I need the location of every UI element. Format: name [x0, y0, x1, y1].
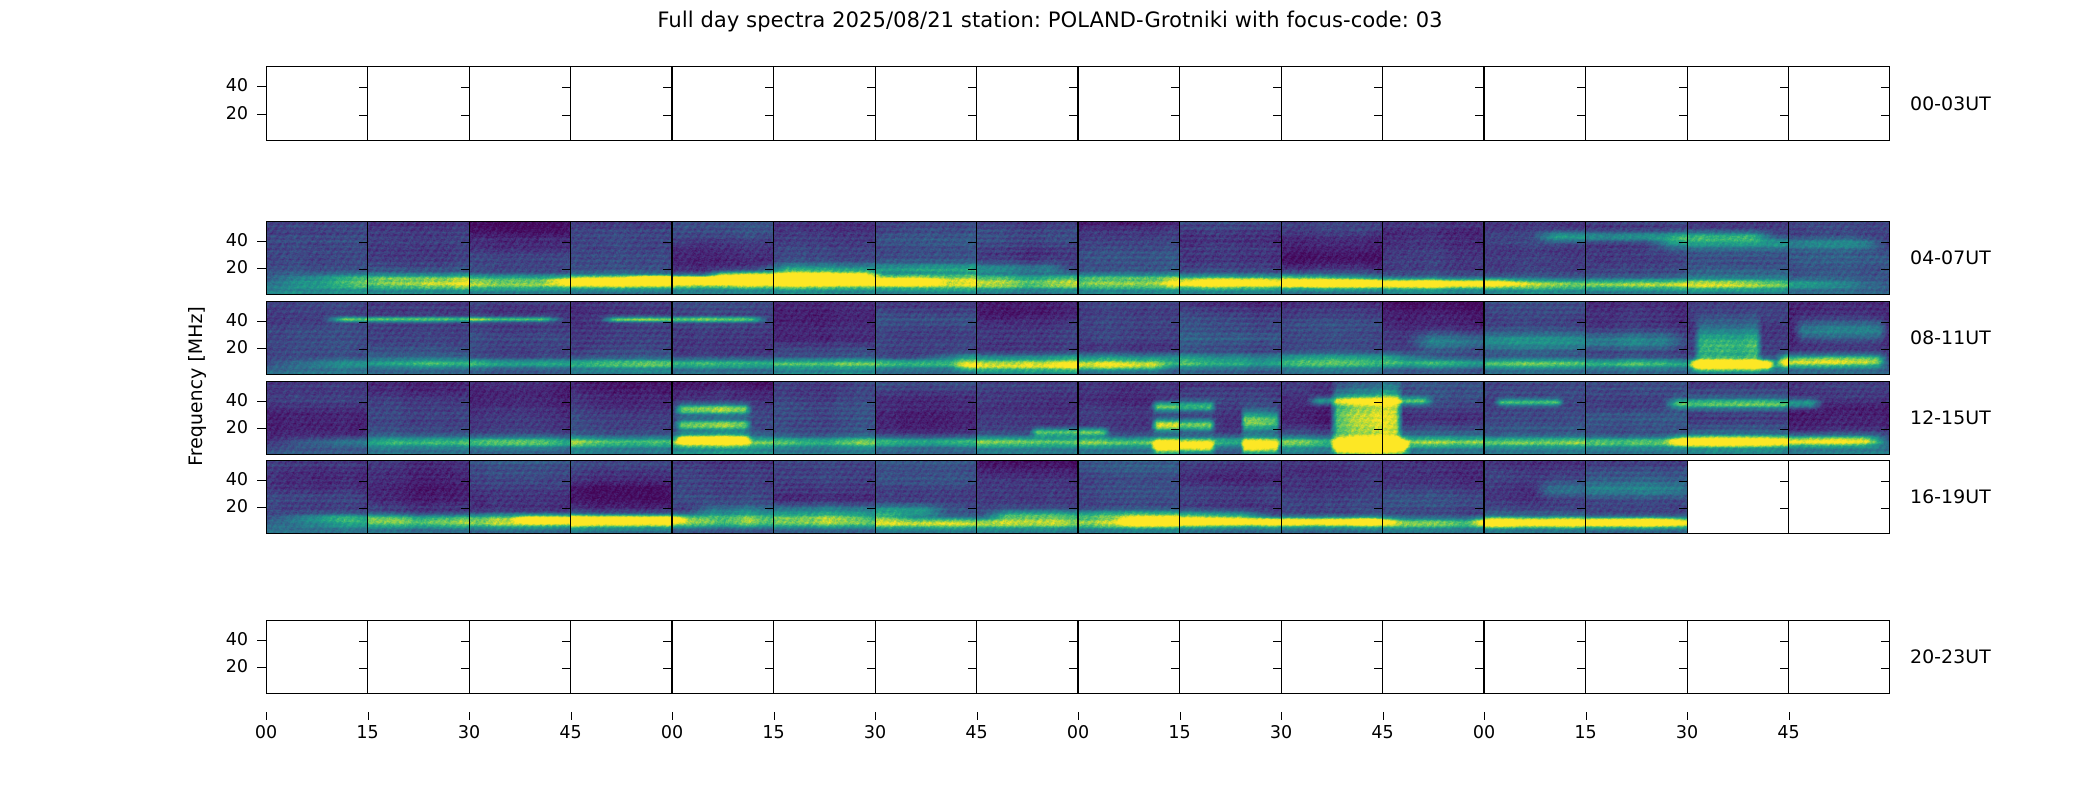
y-tick-mark	[1171, 87, 1179, 88]
y-tick-mark	[663, 87, 671, 88]
row-cells	[267, 222, 1889, 294]
x-axis-tick	[672, 712, 673, 720]
y-tick-mark	[1780, 481, 1788, 482]
spectrogram-cell[interactable]	[671, 621, 773, 693]
spectrogram-cell[interactable]	[1382, 621, 1483, 693]
y-tick-mark	[562, 242, 570, 243]
y-tick-mark	[562, 508, 570, 509]
y-tick-mark	[765, 508, 773, 509]
spectrogram-cell[interactable]	[1788, 382, 1889, 454]
y-tick-mark	[1475, 87, 1483, 88]
x-axis-tick-label: 45	[1777, 723, 1799, 743]
x-axis-tick	[368, 712, 369, 720]
y-tick-mark	[562, 349, 570, 350]
y-tick-mark	[663, 508, 671, 509]
spectrogram-cell[interactable]	[773, 382, 874, 454]
y-tick-mark	[461, 508, 469, 509]
y-tick-mark	[968, 641, 976, 642]
y-tick-mark	[968, 668, 976, 669]
y-tick-mark	[968, 242, 976, 243]
y-tick-mark	[1577, 349, 1585, 350]
y-tick-mark	[1374, 349, 1382, 350]
spectrogram-cell[interactable]	[671, 461, 773, 533]
y-axis-tick-label: 40	[202, 470, 248, 490]
spectrogram-cell[interactable]	[1281, 621, 1382, 693]
spectrogram-cell[interactable]	[1382, 67, 1483, 140]
y-tick-mark	[461, 322, 469, 323]
y-tick-mark	[1679, 349, 1687, 350]
y-axis-tick-label: 20	[202, 497, 248, 517]
spectrogram-cell[interactable]	[570, 67, 671, 140]
spectrogram-cell[interactable]	[267, 67, 367, 140]
y-tick-mark	[1577, 641, 1585, 642]
spectrogram-cell[interactable]	[1483, 621, 1585, 693]
spectrogram-cell[interactable]	[875, 302, 976, 374]
y-tick-mark	[1475, 508, 1483, 509]
y-tick-mark	[867, 87, 875, 88]
y-axis-tick-label: 20	[202, 657, 248, 677]
spectrogram-cell[interactable]	[1382, 302, 1483, 374]
y-tick-mark	[1069, 115, 1077, 116]
y-tick-mark	[1881, 429, 1889, 430]
y-tick-mark	[1069, 349, 1077, 350]
y-tick-mark	[1069, 429, 1077, 430]
y-tick-mark	[968, 349, 976, 350]
x-axis-tick	[774, 712, 775, 720]
spectrogram-cell[interactable]	[1483, 302, 1585, 374]
spectrogram-cell[interactable]	[469, 382, 570, 454]
x-axis-tick-label: 15	[762, 723, 784, 743]
y-tick-mark	[765, 242, 773, 243]
y-tick-mark	[1881, 641, 1889, 642]
y-axis-tick-label: 20	[202, 338, 248, 358]
spectrogram-cell[interactable]	[1788, 222, 1889, 294]
spectrogram-cell[interactable]	[570, 461, 671, 533]
y-tick-mark	[1374, 115, 1382, 116]
spectrogram-cell[interactable]	[1281, 67, 1382, 140]
spectrogram-cell[interactable]	[1788, 461, 1889, 533]
x-axis-tick	[571, 712, 572, 720]
y-axis-tick	[257, 507, 266, 508]
spectrogram-cell[interactable]	[671, 382, 773, 454]
y-axis-tick-label: 40	[202, 391, 248, 411]
y-tick-mark	[968, 402, 976, 403]
row-time-label: 00-03UT	[1910, 93, 1991, 115]
y-tick-mark	[1374, 242, 1382, 243]
y-tick-mark	[663, 481, 671, 482]
y-tick-mark	[1679, 402, 1687, 403]
spectrogram-cell[interactable]	[367, 621, 468, 693]
y-tick-mark	[461, 641, 469, 642]
y-tick-mark	[1171, 402, 1179, 403]
y-tick-mark	[359, 115, 367, 116]
spectrogram-cell[interactable]	[1687, 222, 1788, 294]
y-tick-mark	[359, 481, 367, 482]
spectrogram-cell[interactable]	[267, 382, 367, 454]
y-tick-mark	[562, 87, 570, 88]
y-tick-mark	[359, 668, 367, 669]
spectrogram-cell[interactable]	[1483, 67, 1585, 140]
y-tick-mark	[1475, 349, 1483, 350]
spectrogram-cell[interactable]	[367, 382, 468, 454]
row-cells	[267, 302, 1889, 374]
spectrogram-cell[interactable]	[1077, 461, 1179, 533]
y-axis-tick	[257, 86, 266, 87]
y-tick-mark	[1475, 115, 1483, 116]
x-axis-tick	[1180, 712, 1181, 720]
y-tick-mark	[1069, 322, 1077, 323]
spectrogram-cell[interactable]	[1483, 222, 1585, 294]
y-tick-mark	[1273, 322, 1281, 323]
y-axis-tick	[257, 348, 266, 349]
y-tick-mark	[1069, 402, 1077, 403]
spectrogram-cell[interactable]	[367, 302, 468, 374]
spectrogram-cell[interactable]	[1281, 222, 1382, 294]
y-tick-mark	[1577, 87, 1585, 88]
y-tick-mark	[1881, 402, 1889, 403]
spectrogram-cell[interactable]	[469, 461, 570, 533]
spectrogram-cell[interactable]	[267, 302, 367, 374]
y-tick-mark	[1881, 242, 1889, 243]
spectrogram-cell[interactable]	[1077, 621, 1179, 693]
y-tick-mark	[562, 668, 570, 669]
y-tick-mark	[359, 429, 367, 430]
x-axis-tick	[1383, 712, 1384, 720]
x-axis-tick-label: 15	[1574, 723, 1596, 743]
x-axis-tick	[1789, 712, 1790, 720]
y-tick-mark	[1780, 668, 1788, 669]
y-tick-mark	[1273, 349, 1281, 350]
y-tick-mark	[1577, 242, 1585, 243]
row-cells	[267, 621, 1889, 693]
x-axis-tick-label: 45	[1371, 723, 1393, 743]
x-axis-tick	[1078, 712, 1079, 720]
spectrogram-cell[interactable]	[1687, 67, 1788, 140]
x-axis-tick-label: 15	[356, 723, 378, 743]
spectrogram-cell[interactable]	[1281, 302, 1382, 374]
spectrogram-cell[interactable]	[1382, 222, 1483, 294]
spectrogram-cell[interactable]	[469, 222, 570, 294]
y-axis-tick	[257, 241, 266, 242]
y-tick-mark	[1273, 508, 1281, 509]
row-time-label: 16-19UT	[1910, 486, 1991, 508]
y-tick-mark	[1577, 429, 1585, 430]
y-tick-mark	[359, 269, 367, 270]
x-axis-tick-label: 30	[864, 723, 886, 743]
spectrogram-cell[interactable]	[1585, 461, 1686, 533]
y-tick-mark	[765, 115, 773, 116]
spectrogram-cell[interactable]	[570, 621, 671, 693]
spectrogram-cell[interactable]	[1179, 67, 1280, 140]
y-tick-mark	[1881, 349, 1889, 350]
y-axis-tick-label: 20	[202, 258, 248, 278]
y-tick-mark	[765, 269, 773, 270]
y-tick-mark	[1679, 322, 1687, 323]
y-tick-mark	[867, 242, 875, 243]
y-axis-tick	[257, 321, 266, 322]
y-tick-mark	[1475, 242, 1483, 243]
x-axis-tick-label: 30	[458, 723, 480, 743]
row-cells	[267, 461, 1889, 533]
y-axis-tick-label: 20	[202, 418, 248, 438]
spectrogram-cell[interactable]	[1179, 302, 1280, 374]
x-axis-tick	[1484, 712, 1485, 720]
spectrogram-cell[interactable]	[267, 621, 367, 693]
spectrogram-cell[interactable]	[570, 222, 671, 294]
y-axis-tick	[257, 667, 266, 668]
y-tick-mark	[663, 322, 671, 323]
y-tick-mark	[1881, 322, 1889, 323]
y-tick-mark	[968, 508, 976, 509]
spectrogram-cell[interactable]	[469, 302, 570, 374]
x-axis-tick-label: 45	[965, 723, 987, 743]
y-tick-mark	[1374, 641, 1382, 642]
spectrogram-cell[interactable]	[367, 222, 468, 294]
y-tick-mark	[1577, 481, 1585, 482]
y-tick-mark	[1374, 402, 1382, 403]
y-tick-mark	[1780, 641, 1788, 642]
spectrogram-cell[interactable]	[1585, 621, 1686, 693]
spectrogram-cell[interactable]	[976, 461, 1077, 533]
spectrogram-cell[interactable]	[1585, 67, 1686, 140]
y-tick-mark	[765, 322, 773, 323]
y-tick-mark	[359, 402, 367, 403]
y-axis-label: Frequency [MHz]	[183, 60, 209, 712]
y-axis-tick	[257, 428, 266, 429]
y-tick-mark	[359, 87, 367, 88]
y-tick-mark	[867, 269, 875, 270]
y-tick-mark	[562, 115, 570, 116]
x-axis-tick-label: 30	[1676, 723, 1698, 743]
spectrogram-cell[interactable]	[1788, 67, 1889, 140]
y-tick-mark	[1171, 481, 1179, 482]
y-tick-mark	[968, 87, 976, 88]
y-tick-mark	[1475, 668, 1483, 669]
spectrogram-cell[interactable]	[1077, 382, 1179, 454]
y-tick-mark	[968, 322, 976, 323]
spectrogram-cell[interactable]	[1483, 382, 1585, 454]
y-tick-mark	[461, 349, 469, 350]
spectrogram-cell[interactable]	[1382, 382, 1483, 454]
y-tick-mark	[461, 402, 469, 403]
y-tick-mark	[663, 349, 671, 350]
y-tick-mark	[562, 481, 570, 482]
y-tick-mark	[867, 402, 875, 403]
spectrogram-cell[interactable]	[875, 461, 976, 533]
y-tick-mark	[1881, 508, 1889, 509]
spectrogram-cell[interactable]	[773, 67, 874, 140]
x-axis-tick-label: 00	[1473, 723, 1495, 743]
spectrogram-row-08-11ut[interactable]	[266, 301, 1890, 375]
spectrogram-cell[interactable]	[773, 222, 874, 294]
spectrogram-figure: Full day spectra 2025/08/21 station: POL…	[0, 0, 2100, 800]
spectrogram-row-12-15ut[interactable]	[266, 381, 1890, 455]
y-tick-mark	[359, 349, 367, 350]
x-axis-tick	[875, 712, 876, 720]
y-tick-mark	[1679, 668, 1687, 669]
spectrogram-cell[interactable]	[976, 621, 1077, 693]
y-tick-mark	[867, 349, 875, 350]
spectrogram-cell[interactable]	[1687, 382, 1788, 454]
spectrogram-cell[interactable]	[570, 302, 671, 374]
y-tick-mark	[1679, 269, 1687, 270]
spectrogram-cell[interactable]	[976, 382, 1077, 454]
spectrogram-cell[interactable]	[976, 67, 1077, 140]
y-tick-mark	[867, 429, 875, 430]
spectrogram-cell[interactable]	[267, 222, 367, 294]
spectrogram-cell[interactable]	[1585, 222, 1686, 294]
x-axis-tick-label: 00	[1067, 723, 1089, 743]
y-tick-mark	[663, 429, 671, 430]
spectrogram-cell[interactable]	[976, 302, 1077, 374]
x-axis-tick-label: 00	[661, 723, 683, 743]
y-tick-mark	[765, 668, 773, 669]
spectrogram-cell[interactable]	[469, 621, 570, 693]
y-tick-mark	[663, 115, 671, 116]
y-tick-mark	[765, 429, 773, 430]
y-tick-mark	[1171, 349, 1179, 350]
spectrogram-cell[interactable]	[1281, 382, 1382, 454]
spectrogram-cell[interactable]	[875, 621, 976, 693]
row-cells	[267, 67, 1889, 140]
spectrogram-cell[interactable]	[671, 222, 773, 294]
x-axis-tick	[977, 712, 978, 720]
y-tick-mark	[562, 269, 570, 270]
y-tick-mark	[1374, 481, 1382, 482]
y-tick-mark	[1273, 481, 1281, 482]
spectrogram-cell[interactable]	[1585, 382, 1686, 454]
y-tick-mark	[765, 641, 773, 642]
y-tick-mark	[1171, 508, 1179, 509]
y-tick-mark	[1171, 429, 1179, 430]
spectrogram-cell[interactable]	[367, 67, 468, 140]
spectrogram-cell[interactable]	[1179, 382, 1280, 454]
spectrogram-cell[interactable]	[1179, 222, 1280, 294]
y-tick-mark	[1273, 668, 1281, 669]
spectrogram-row-20-23ut[interactable]	[266, 620, 1890, 694]
spectrogram-cell[interactable]	[267, 461, 367, 533]
y-tick-mark	[1273, 242, 1281, 243]
y-tick-mark	[1577, 115, 1585, 116]
row-time-label: 08-11UT	[1910, 327, 1991, 349]
spectrogram-cell[interactable]	[1788, 302, 1889, 374]
y-tick-mark	[359, 508, 367, 509]
row-time-label: 20-23UT	[1910, 646, 1991, 668]
spectrogram-cell[interactable]	[976, 222, 1077, 294]
y-tick-mark	[1475, 429, 1483, 430]
spectrogram-cell[interactable]	[875, 222, 976, 294]
y-tick-mark	[1171, 641, 1179, 642]
spectrogram-cell[interactable]	[1077, 222, 1179, 294]
y-tick-mark	[1374, 322, 1382, 323]
y-tick-mark	[1069, 668, 1077, 669]
x-axis-tick	[266, 712, 267, 720]
y-tick-mark	[1577, 668, 1585, 669]
spectrogram-cell[interactable]	[1687, 461, 1788, 533]
y-tick-mark	[1475, 269, 1483, 270]
spectrogram-cell[interactable]	[1788, 621, 1889, 693]
spectrogram-cell[interactable]	[875, 382, 976, 454]
y-axis-tick-label: 40	[202, 311, 248, 331]
y-tick-mark	[562, 429, 570, 430]
y-axis-tick	[257, 401, 266, 402]
x-axis-tick	[1586, 712, 1587, 720]
y-tick-mark	[1171, 269, 1179, 270]
y-tick-mark	[663, 641, 671, 642]
y-axis-tick-label: 40	[202, 76, 248, 96]
row-time-label: 12-15UT	[1910, 407, 1991, 429]
spectrogram-cell[interactable]	[1687, 302, 1788, 374]
spectrogram-row-00-03ut[interactable]	[266, 66, 1890, 141]
y-tick-mark	[1069, 508, 1077, 509]
y-tick-mark	[867, 641, 875, 642]
y-tick-mark	[562, 322, 570, 323]
x-axis-tick-label: 15	[1168, 723, 1190, 743]
y-tick-mark	[1273, 429, 1281, 430]
spectrogram-cell[interactable]	[1179, 621, 1280, 693]
y-tick-mark	[562, 402, 570, 403]
y-tick-mark	[461, 115, 469, 116]
spectrogram-cell[interactable]	[1483, 461, 1585, 533]
y-tick-mark	[1475, 481, 1483, 482]
y-tick-mark	[1171, 322, 1179, 323]
spectrogram-cell[interactable]	[1077, 67, 1179, 140]
y-tick-mark	[1679, 641, 1687, 642]
y-tick-mark	[663, 242, 671, 243]
spectrogram-cell[interactable]	[773, 621, 874, 693]
spectrogram-cell[interactable]	[875, 67, 976, 140]
y-tick-mark	[1475, 322, 1483, 323]
y-tick-mark	[1881, 269, 1889, 270]
y-tick-mark	[1780, 269, 1788, 270]
x-axis-tick-label: 30	[1270, 723, 1292, 743]
row-cells	[267, 382, 1889, 454]
y-tick-mark	[1577, 322, 1585, 323]
spectrogram-cell[interactable]	[1179, 461, 1280, 533]
spectrogram-cell[interactable]	[570, 382, 671, 454]
y-tick-mark	[765, 402, 773, 403]
y-tick-mark	[359, 641, 367, 642]
y-tick-mark	[663, 269, 671, 270]
spectrogram-cell[interactable]	[367, 461, 468, 533]
y-axis-tick-label: 40	[202, 630, 248, 650]
y-tick-mark	[663, 668, 671, 669]
spectrogram-cell[interactable]	[773, 302, 874, 374]
spectrogram-cell[interactable]	[469, 67, 570, 140]
y-tick-mark	[1273, 115, 1281, 116]
y-tick-mark	[867, 481, 875, 482]
spectrogram-cell[interactable]	[671, 67, 773, 140]
spectrogram-cell[interactable]	[1281, 461, 1382, 533]
y-tick-mark	[1780, 429, 1788, 430]
spectrogram-row-04-07ut[interactable]	[266, 221, 1890, 295]
y-tick-mark	[461, 87, 469, 88]
y-tick-mark	[461, 269, 469, 270]
spectrogram-cell[interactable]	[1687, 621, 1788, 693]
y-tick-mark	[1273, 402, 1281, 403]
y-tick-mark	[1475, 641, 1483, 642]
y-tick-mark	[867, 508, 875, 509]
y-tick-mark	[1069, 481, 1077, 482]
spectrogram-row-16-19ut[interactable]	[266, 460, 1890, 534]
spectrogram-cell[interactable]	[1585, 302, 1686, 374]
spectrogram-cell[interactable]	[671, 302, 773, 374]
spectrogram-cell[interactable]	[1077, 302, 1179, 374]
spectrogram-cell[interactable]	[773, 461, 874, 533]
y-tick-mark	[1475, 402, 1483, 403]
spectrogram-cell[interactable]	[1382, 461, 1483, 533]
y-tick-mark	[1374, 269, 1382, 270]
